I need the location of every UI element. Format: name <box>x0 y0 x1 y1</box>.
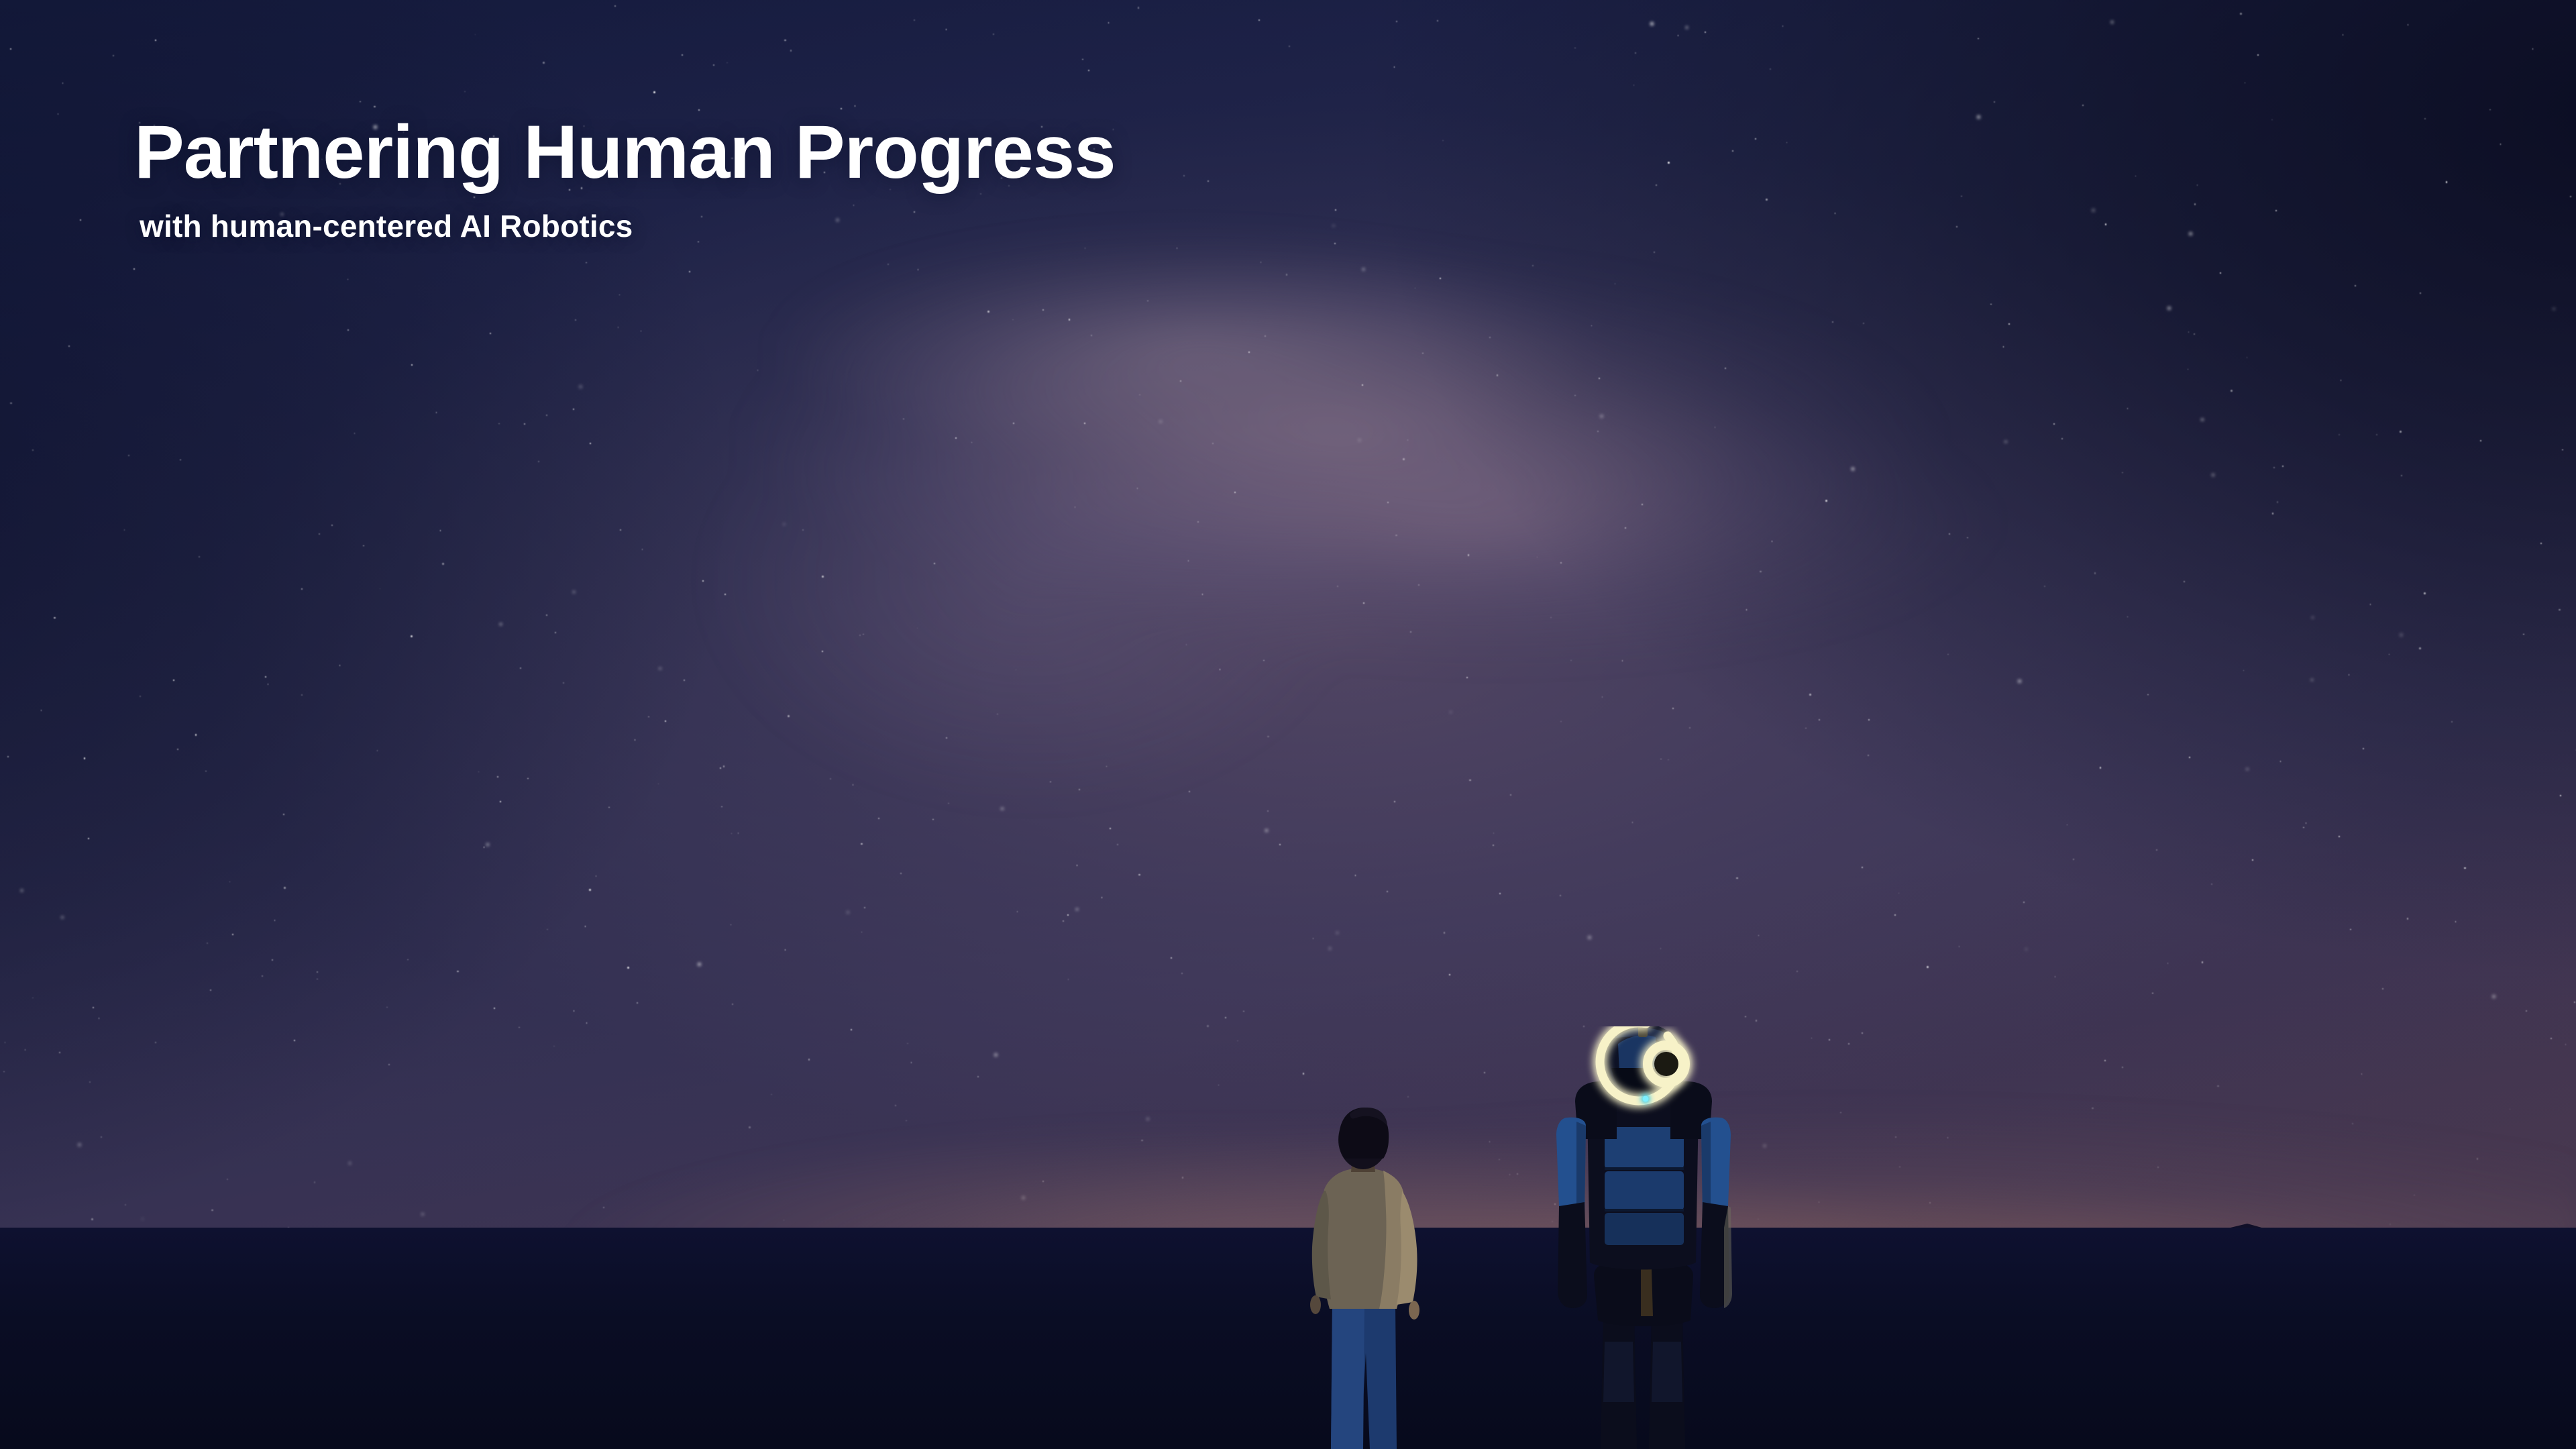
hero-text-block: Partnering Human Progress with human-cen… <box>134 114 1116 244</box>
page-title: Partnering Human Progress <box>134 114 1116 191</box>
hero-scene: Partnering Human Progress with human-cen… <box>0 0 2576 1449</box>
page-subtitle: with human-centered AI Robotics <box>140 208 1116 244</box>
person-figure <box>1295 1104 1436 1449</box>
robot-figure <box>1503 1026 1784 1449</box>
ground-plane <box>0 1228 2576 1449</box>
